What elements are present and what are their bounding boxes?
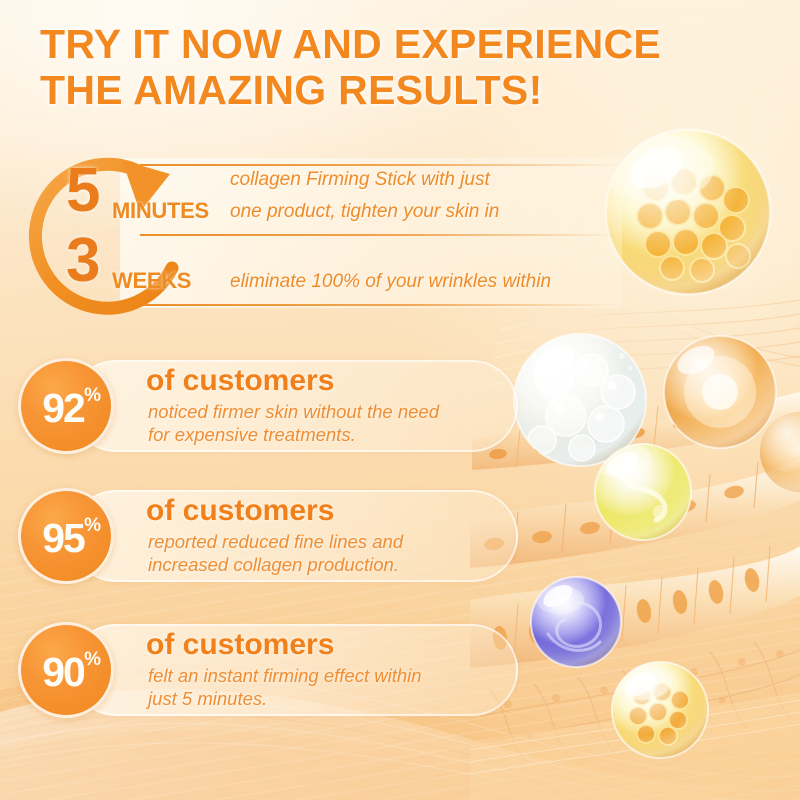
time-claim-number-weeks: 3 (66, 230, 100, 292)
stat-body: reported reduced fine lines and increase… (148, 530, 518, 577)
stat-percent-number: 95 (42, 518, 84, 559)
time-claim-desc-minutes-line-2: one product, tighten your skin in (230, 200, 499, 224)
time-claim-unit-weeks: WEEKS (112, 268, 191, 294)
honeycomb-sphere-yellow-top-icon (602, 128, 772, 296)
status-badge: 92 % (18, 358, 114, 454)
time-claim-block: 5 MINUTES collagen Firming Stick with ju… (22, 148, 622, 318)
stat-title: of customers (146, 494, 334, 528)
stat-body-line-2: just 5 minutes. (148, 688, 267, 709)
time-claim-number-minutes: 5 (66, 160, 100, 222)
amber-sphere-icon (663, 335, 777, 449)
time-claim-desc-minutes-line-1: collagen Firming Stick with just (230, 168, 490, 192)
stat-percent-number: 90 (42, 652, 84, 693)
page-title: TRY IT NOW AND EXPERIENCE THE AMAZING RE… (40, 22, 740, 114)
stat-percent-sign: % (84, 385, 101, 407)
stat-row: 90 % of customers felt an instant firmin… (18, 622, 518, 718)
stat-body-line-1: reported reduced fine lines and (148, 531, 403, 552)
stat-row: 95 % of customers reported reduced fine … (18, 488, 518, 584)
sphere-blue-swirl-icon (530, 576, 622, 668)
time-claim-rule-bottom (140, 304, 620, 306)
stat-row: 92 % of customers noticed firmer skin wi… (18, 358, 518, 454)
artwork-panel (470, 0, 800, 800)
time-claim-row-weeks: 3 WEEKS eliminate 100% of your wrinkles … (66, 234, 626, 304)
honeycomb-sphere-yellow-bottom-icon (611, 661, 709, 759)
status-badge: 95 % (18, 488, 114, 584)
time-claim-row-minutes: 5 MINUTES collagen Firming Stick with ju… (66, 164, 626, 234)
stat-body-line-1: noticed firmer skin without the need (148, 401, 439, 422)
stat-title: of customers (146, 628, 334, 662)
stat-body: noticed firmer skin without the need for… (148, 400, 518, 447)
stat-percent-number: 92 (42, 388, 84, 429)
time-claim-unit-minutes: MINUTES (112, 198, 209, 224)
time-claim-desc-weeks-line-1: eliminate 100% of your wrinkles within (230, 270, 551, 294)
headline-line-1: TRY IT NOW AND EXPERIENCE (40, 22, 740, 68)
stat-body-line-1: felt an instant firming effect within (148, 665, 422, 686)
stat-title: of customers (146, 364, 334, 398)
status-badge: 90 % (18, 622, 114, 718)
stat-percent-sign: % (84, 515, 101, 537)
stat-body-line-2: for expensive treatments. (148, 424, 356, 445)
headline-line-2: THE AMAZING RESULTS! (40, 68, 740, 114)
stat-body-line-2: increased collagen production. (148, 554, 399, 575)
stat-percent-sign: % (84, 649, 101, 671)
stat-body: felt an instant firming effect within ju… (148, 664, 518, 711)
